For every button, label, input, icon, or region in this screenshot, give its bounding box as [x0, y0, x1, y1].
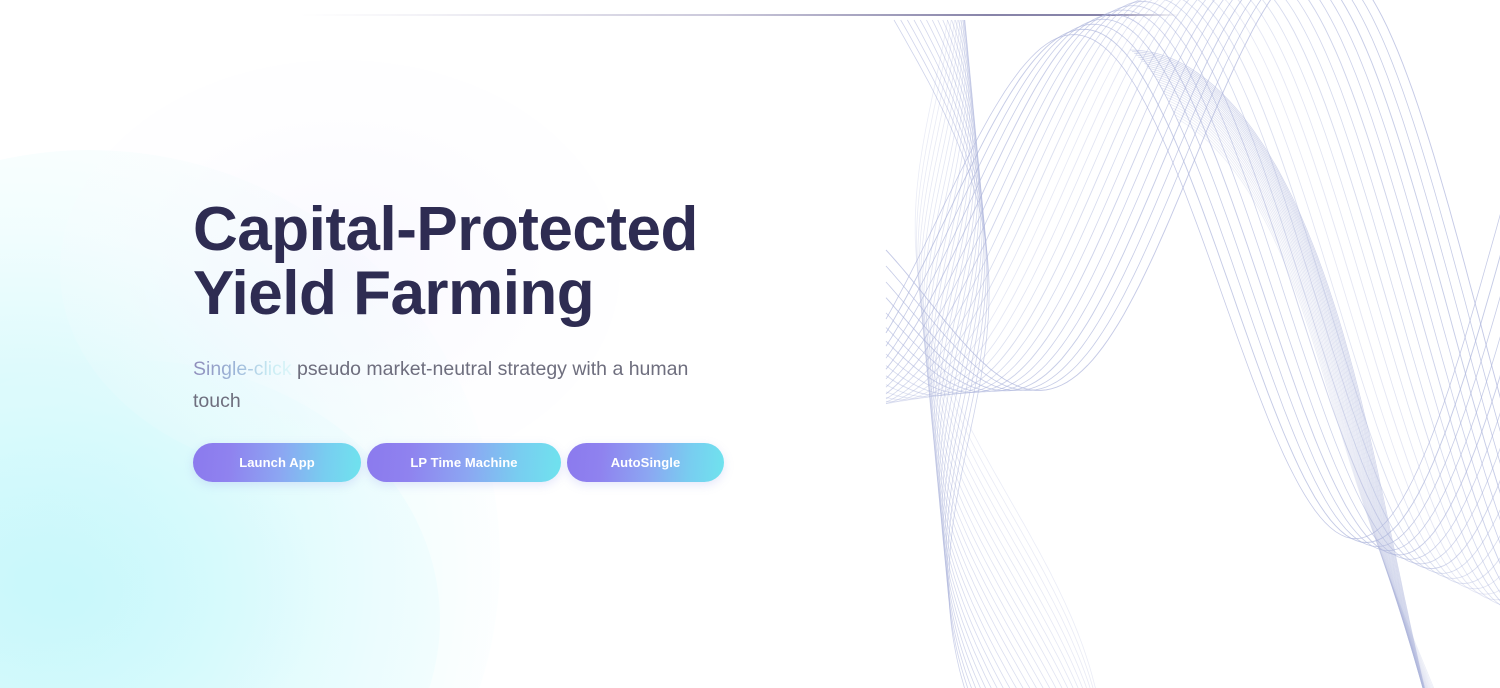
autosingle-button[interactable]: AutoSingle [567, 443, 724, 482]
top-divider-line [300, 14, 1180, 16]
page-title: Capital-Protected Yield Farming [193, 198, 833, 326]
hero-subtitle: Single-click pseudo market-neutral strat… [193, 353, 693, 417]
wave-line-art [880, 0, 1500, 688]
hero-page: Capital-Protected Yield Farming Single-c… [0, 0, 1500, 688]
hero-content: Capital-Protected Yield Farming Single-c… [193, 198, 833, 482]
launch-app-button[interactable]: Launch App [193, 443, 361, 482]
hero-subtitle-accent: Single-click [193, 358, 292, 380]
lp-time-machine-button[interactable]: LP Time Machine [367, 443, 561, 482]
cta-button-row: Launch App LP Time Machine AutoSingle [193, 443, 833, 482]
